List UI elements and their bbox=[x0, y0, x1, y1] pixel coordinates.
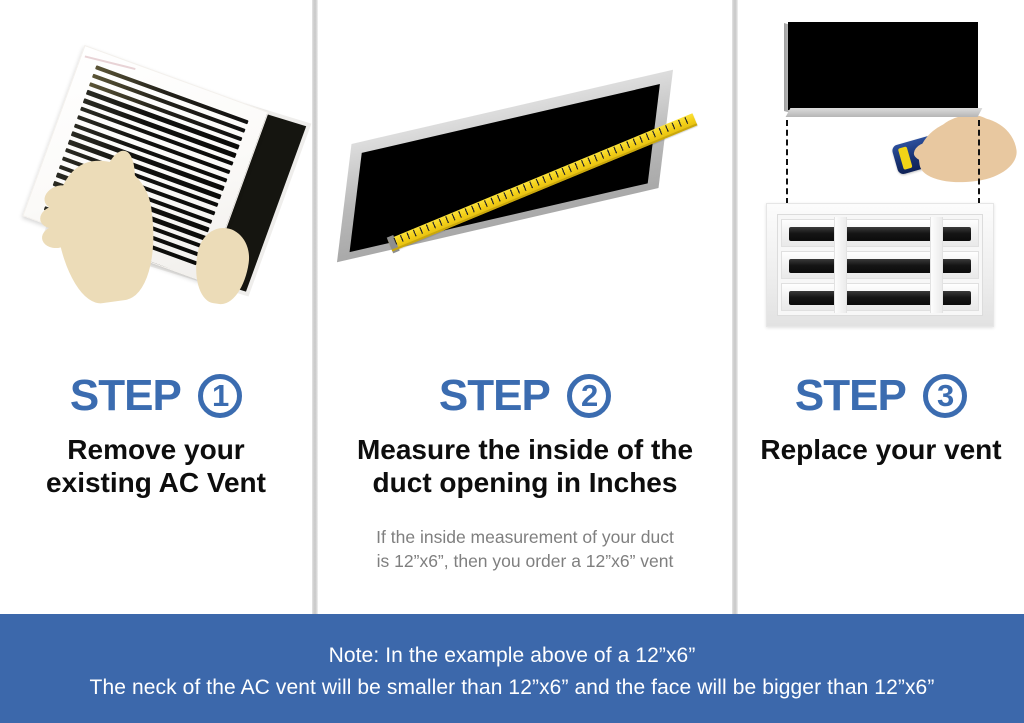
step-1-text: STEP 1 Remove your existing AC Vent bbox=[0, 372, 312, 500]
duct-opening-perspective bbox=[337, 70, 673, 263]
louver-bar bbox=[789, 259, 971, 273]
duct-opening-above bbox=[784, 22, 978, 118]
instruction-infographic: STEP 1 Remove your existing AC Vent bbox=[0, 0, 1024, 723]
step-2-headline: Measure the inside of the duct opening i… bbox=[318, 434, 732, 500]
step-3-illustration bbox=[738, 0, 1024, 614]
headline-line: Remove your bbox=[8, 434, 304, 467]
step-word: STEP bbox=[439, 374, 550, 418]
step-1-illustration bbox=[0, 0, 312, 614]
step-2-text: STEP 2 Measure the inside of the duct op… bbox=[318, 372, 732, 573]
step-word: STEP bbox=[795, 374, 906, 418]
alignment-guide-line-right bbox=[978, 120, 980, 204]
step-2-subnote: If the inside measurement of your duct i… bbox=[318, 526, 732, 573]
panel-divider bbox=[312, 0, 318, 614]
step-1-label: STEP 1 bbox=[0, 372, 312, 418]
vent-louver-area bbox=[777, 214, 983, 316]
step-panel-3: STEP 3 Replace your vent bbox=[738, 0, 1024, 614]
headline-line: duct opening in Inches bbox=[326, 467, 724, 500]
step-number-badge: 2 bbox=[567, 374, 611, 418]
louver-bar bbox=[789, 291, 971, 305]
louver-divider bbox=[930, 249, 943, 281]
louver-divider bbox=[834, 217, 847, 249]
duct-opening-dark bbox=[788, 22, 978, 110]
louver-bar bbox=[789, 227, 971, 241]
step-2-label: STEP 2 bbox=[318, 372, 732, 418]
step-panel-2: STEP 2 Measure the inside of the duct op… bbox=[318, 0, 732, 614]
vent-grille-assembly bbox=[21, 45, 297, 297]
panel-divider bbox=[732, 0, 738, 614]
step-number-badge: 1 bbox=[198, 374, 242, 418]
headline-line: Replace your vent bbox=[746, 434, 1016, 467]
subnote-line: is 12”x6”, then you order a 12”x6” vent bbox=[332, 550, 718, 574]
step-word: STEP bbox=[70, 374, 181, 418]
louver-divider bbox=[930, 281, 943, 313]
step-panel-1: STEP 1 Remove your existing AC Vent bbox=[0, 0, 312, 614]
alignment-guide-line-left bbox=[786, 120, 788, 204]
louver-row bbox=[781, 283, 979, 311]
footer-note-line-1: Note: In the example above of a 12”x6” bbox=[0, 640, 1024, 672]
headline-line: existing AC Vent bbox=[8, 467, 304, 500]
louver-divider bbox=[834, 281, 847, 313]
duct-bottom-edge bbox=[786, 108, 983, 117]
footer-note-line-2: The neck of the AC vent will be smaller … bbox=[0, 672, 1024, 704]
step-3-label: STEP 3 bbox=[738, 372, 1024, 418]
step-1-headline: Remove your existing AC Vent bbox=[0, 434, 312, 500]
louver-row bbox=[781, 219, 979, 247]
subnote-line: If the inside measurement of your duct bbox=[332, 526, 718, 550]
step-3-headline: Replace your vent bbox=[738, 434, 1024, 467]
louver-divider bbox=[834, 249, 847, 281]
step-3-text: STEP 3 Replace your vent bbox=[738, 372, 1024, 467]
step-number-badge: 3 bbox=[923, 374, 967, 418]
louver-row bbox=[781, 251, 979, 279]
replacement-vent-register bbox=[766, 203, 994, 327]
louver-divider bbox=[930, 217, 943, 249]
footer-note-bar: Note: In the example above of a 12”x6” T… bbox=[0, 614, 1024, 723]
headline-line: Measure the inside of the bbox=[326, 434, 724, 467]
